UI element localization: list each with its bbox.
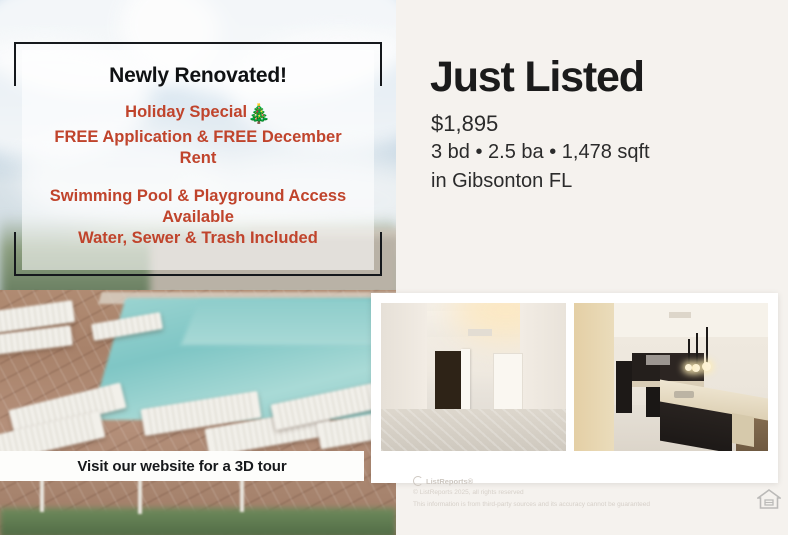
bedroom-door — [461, 349, 470, 415]
page-title: Just Listed — [430, 56, 644, 99]
equal-housing-opportunity-icon — [757, 488, 781, 510]
website-caption-banner: Visit our website for a 3D tour — [0, 451, 364, 481]
promo-offer-line1: Holiday Special — [125, 103, 247, 121]
promo-offer-text: Holiday Special🎄 FREE Application & FREE… — [26, 102, 371, 170]
kitchen-photo[interactable] — [574, 303, 768, 451]
pendant-cord — [696, 333, 698, 365]
microwave — [646, 355, 670, 365]
island-end-panel — [732, 413, 754, 447]
listreports-mark-icon — [413, 476, 423, 486]
bedroom-photo[interactable] — [381, 303, 566, 451]
disclaimer-text: This information is from third-party sou… — [413, 500, 713, 510]
promo-amenity-line3: Water, Sewer & Trash Included — [78, 229, 318, 247]
promo-amenity-text: Swimming Pool & Playground Access Availa… — [22, 186, 374, 249]
promo-amenity-line1: Swimming Pool & Playground Access — [50, 187, 346, 205]
pendant-light — [702, 362, 711, 371]
listing-flyer: Newly Renovated! Holiday Special🎄 FREE A… — [0, 0, 788, 535]
promo-overlay-panel: Newly Renovated! Holiday Special🎄 FREE A… — [22, 50, 374, 270]
property-photo-card — [371, 293, 778, 483]
bedroom-closet-door — [493, 353, 523, 411]
christmas-tree-icon: 🎄 — [247, 104, 271, 125]
promo-offer-line3: Rent — [180, 149, 217, 167]
hedge — [0, 508, 396, 535]
footer: ListReports® © ListReports 2025, all rig… — [413, 476, 733, 510]
bedroom-carpet — [381, 409, 566, 451]
pendant-light — [685, 364, 692, 371]
promo-title: Newly Renovated! — [109, 64, 287, 88]
swimming-pool-water-upper — [181, 300, 396, 345]
bedroom-doorway — [435, 351, 461, 413]
ceiling-vent — [468, 329, 492, 336]
copyright-text: © ListReports 2025, all rights reserved — [413, 488, 713, 498]
promo-amenity-line2: Available — [162, 208, 234, 226]
kitchen-left-wall — [574, 303, 614, 451]
kitchen-ceiling — [614, 303, 768, 337]
pendant-cord — [706, 327, 708, 363]
refrigerator — [616, 361, 632, 413]
listing-location: in Gibsonton FL — [431, 170, 572, 193]
caption-text: Visit our website for a 3D tour — [77, 458, 286, 475]
listreports-logo: ListReports® — [413, 476, 733, 486]
pendant-light — [692, 364, 700, 372]
pendant-cord — [688, 339, 690, 365]
listing-price: $1,895 — [431, 111, 498, 137]
brand-name: ListReports® — [426, 477, 473, 486]
promo-offer-line2: FREE Application & FREE December — [54, 128, 341, 146]
ceiling-vent — [669, 312, 691, 318]
sink — [674, 391, 694, 398]
listing-specs: 3 bd • 2.5 ba • 1,478 sqft — [431, 141, 650, 164]
